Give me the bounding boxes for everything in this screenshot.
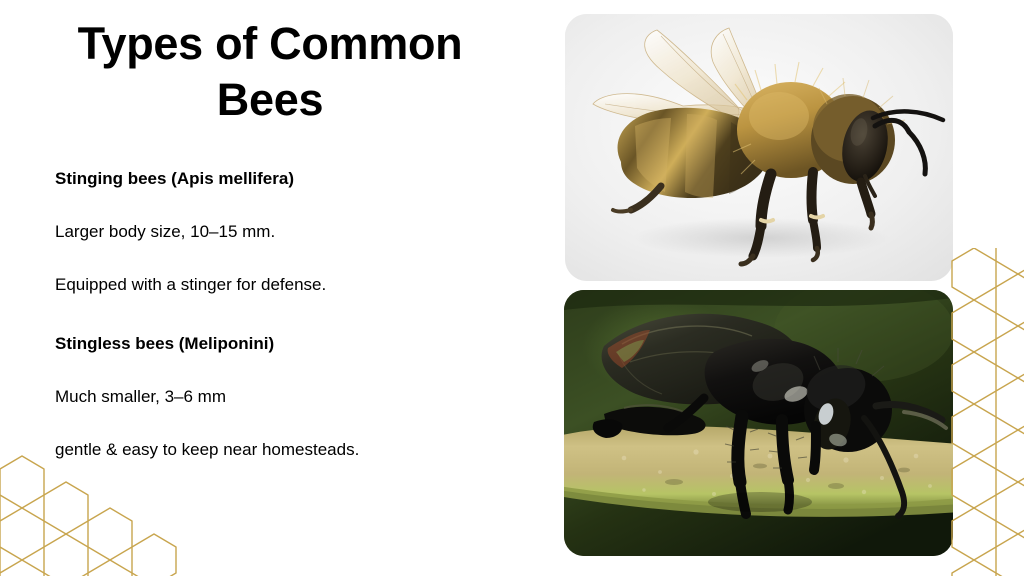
block-line-stingless-temperament: gentle & easy to keep near homesteads. bbox=[55, 439, 515, 462]
honeycomb-decoration-right bbox=[944, 248, 1024, 576]
honeybee-photo-alt: Honey bee (Apis mellifera) in profile fa… bbox=[565, 14, 566, 15]
stingless-bee-illustration bbox=[564, 290, 953, 556]
page-title: Types of Common Bees bbox=[28, 16, 512, 128]
block-line-stinging-stinger: Equipped with a stinger for defense. bbox=[55, 274, 515, 297]
block-heading-stinging: Stinging bees (Apis mellifera) bbox=[55, 168, 515, 191]
honeybee-illustration bbox=[565, 14, 953, 281]
text-column: Types of Common Bees Stinging bees (Apis… bbox=[0, 0, 540, 576]
body-content: Stinging bees (Apis mellifera) Larger bo… bbox=[55, 168, 515, 462]
bee-type-block-stingless: Stingless bees (Meliponini) Much smaller… bbox=[55, 333, 515, 462]
stingless-bee-photo-alt: Black stingless bee (Meliponini) resting… bbox=[564, 290, 565, 291]
bee-type-block-stinging: Stinging bees (Apis mellifera) Larger bo… bbox=[55, 168, 515, 297]
block-line-stinging-size: Larger body size, 10–15 mm. bbox=[55, 221, 515, 244]
slide-canvas: Types of Common Bees Stinging bees (Apis… bbox=[0, 0, 1024, 576]
stingless-bee-photo: Black stingless bee (Meliponini) resting… bbox=[564, 290, 953, 556]
block-line-stingless-size: Much smaller, 3–6 mm bbox=[55, 386, 515, 409]
honeybee-photo: Honey bee (Apis mellifera) in profile fa… bbox=[565, 14, 953, 281]
block-heading-stingless: Stingless bees (Meliponini) bbox=[55, 333, 515, 356]
